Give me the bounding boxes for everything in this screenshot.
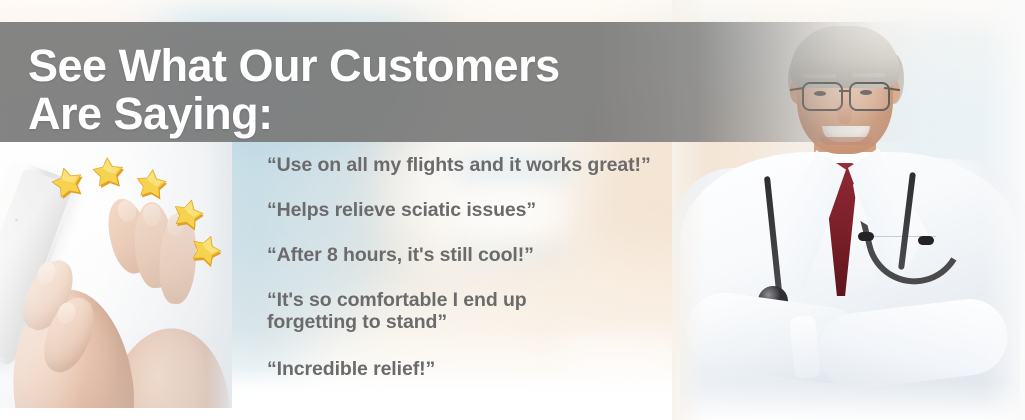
testimonial-quote: “After 8 hours, it's still cool!” xyxy=(267,244,687,266)
stethoscope-eartip xyxy=(918,236,934,245)
stethoscope-eartip xyxy=(858,232,874,241)
star-icon xyxy=(46,160,87,201)
star-icon xyxy=(90,153,126,189)
testimonial-banner: See What Our Customers Are Saying: “Use … xyxy=(0,0,1025,420)
star-icon xyxy=(168,192,208,232)
testimonial-quote: “Helps relieve sciatic issues” xyxy=(267,199,687,221)
testimonial-quote: “Incredible relief!” xyxy=(267,358,687,380)
page-title: See What Our Customers Are Saying: xyxy=(28,42,560,138)
testimonial-quote: “It's so comfortable I end up forgetting… xyxy=(267,289,687,333)
testimonial-list: “Use on all my flights and it works grea… xyxy=(267,154,687,380)
headline-bar: See What Our Customers Are Saying: xyxy=(0,22,1025,142)
star-icon xyxy=(133,164,169,200)
star-icon xyxy=(185,227,227,269)
star-rating xyxy=(0,150,240,270)
testimonial-quote: “Use on all my flights and it works grea… xyxy=(267,154,687,176)
